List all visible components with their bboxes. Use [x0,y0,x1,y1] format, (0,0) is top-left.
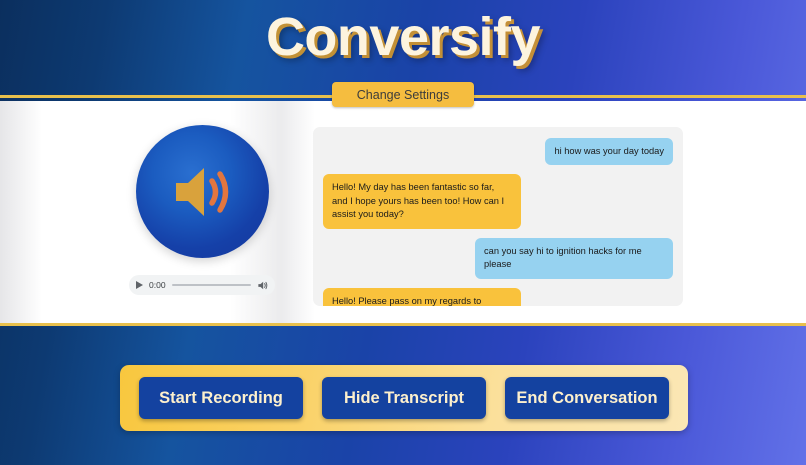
end-conversation-button[interactable]: End Conversation [505,377,669,419]
audio-playback-block: 0:00 [128,125,276,295]
audio-current-time: 0:00 [149,280,166,290]
control-button-bar: Start Recording Hide Transcript End Conv… [120,365,688,431]
speaker-avatar [136,125,269,258]
audio-player[interactable]: 0:00 [129,275,275,295]
hide-transcript-button[interactable]: Hide Transcript [322,377,486,419]
chat-bubble-user: can you say hi to ignition hacks for me … [475,238,673,279]
chat-message-row: Hello! Please pass on my regards to Igni… [323,288,673,306]
chat-message-row: hi how was your day today [323,138,673,165]
chat-bubble-bot: Hello! Please pass on my regards to Igni… [323,288,521,306]
speaker-volume-icon [166,156,238,228]
chat-bubble-user: hi how was your day today [545,138,673,165]
audio-progress-slider[interactable] [172,284,251,286]
volume-icon[interactable] [257,280,268,291]
chat-message-row: Hello! My day has been fantastic so far,… [323,174,673,228]
page-title: Conversify [0,6,806,68]
main-content-area: 0:00 hi how was your day today Hello! My… [0,101,806,326]
chat-transcript-panel[interactable]: hi how was your day today Hello! My day … [313,127,683,306]
start-recording-button[interactable]: Start Recording [139,377,303,419]
change-settings-button[interactable]: Change Settings [332,82,474,107]
chat-bubble-bot: Hello! My day has been fantastic so far,… [323,174,521,228]
chat-message-row: can you say hi to ignition hacks for me … [323,238,673,279]
play-icon[interactable] [136,281,143,289]
